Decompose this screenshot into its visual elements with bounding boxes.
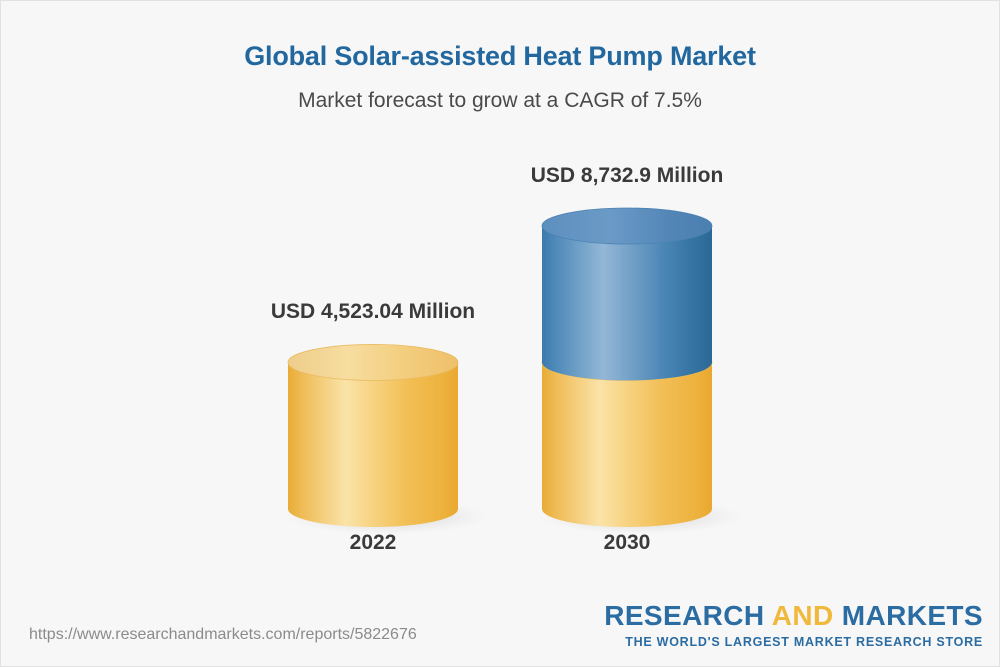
research-and-markets-logo[interactable]: RESEARCH AND MARKETS THE WORLD'S LARGEST… (604, 602, 983, 649)
logo-word-and: AND (765, 600, 842, 631)
logo-tagline: THE WORLD'S LARGEST MARKET RESEARCH STOR… (604, 636, 983, 649)
cylinder-body-base (288, 362, 458, 527)
source-url[interactable]: https://www.researchandmarkets.com/repor… (29, 626, 417, 644)
cylinder-top-growth (542, 208, 712, 244)
cylinder-body-base (542, 362, 712, 527)
category-label-2022: 2022 (273, 531, 473, 555)
value-label-2030: USD 8,732.9 Million (427, 164, 827, 188)
bar-2022[interactable] (285, 344, 489, 534)
chart-canvas: Global Solar-assisted Heat Pump Market M… (0, 0, 1000, 667)
category-label-2030: 2030 (527, 531, 727, 555)
logo-word-markets: MARKETS (842, 600, 983, 631)
bar-2030[interactable] (539, 208, 743, 534)
logo-word-research: RESEARCH (604, 600, 764, 631)
value-label-2022: USD 4,523.04 Million (173, 300, 573, 324)
cylinder-top-base (288, 344, 458, 380)
logo-wordmark: RESEARCH AND MARKETS (604, 602, 983, 630)
